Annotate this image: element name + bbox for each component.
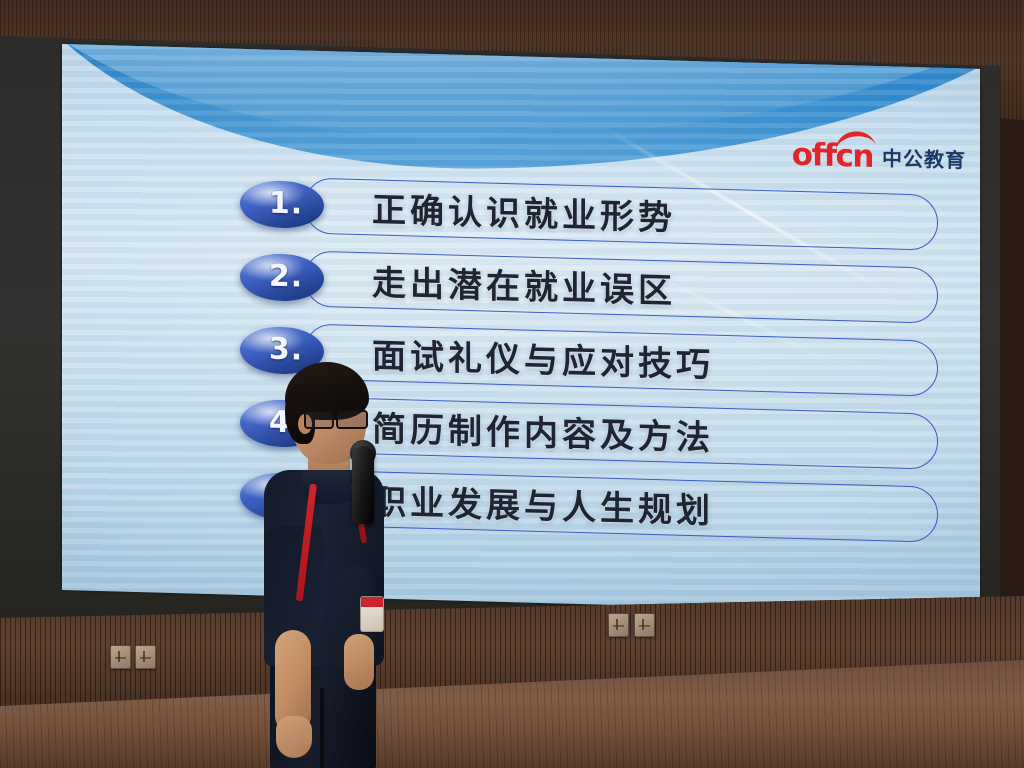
presenter [252,358,428,768]
outlet-socket-icon [639,619,650,630]
glasses-lens-right [336,410,368,429]
list-item-label: 走出潜在就业误区 [372,255,676,312]
outlet-socket-icon [613,619,624,630]
outlet-socket-icon [115,651,126,662]
list-item-number: 1. [269,188,303,219]
list-item-label: 正确认识就业形势 [372,182,676,239]
presenter-sleeve [264,526,324,638]
offcn-chinese-name: 中公教育 [882,148,966,170]
wall-outlet-plate [634,613,655,637]
offcn-wordmark: offcn [792,140,873,173]
presenter-leg-seam [320,688,324,768]
wall-outlet-plate [135,645,156,669]
projection-screen: offcn 中公教育 1. 正确认识就业形势 2. 走出潜在就业误区 [62,44,980,615]
lecture-hall-scene: offcn 中公教育 1. 正确认识就业形势 2. 走出潜在就业误区 [0,0,1024,768]
glasses-lens-left [304,410,334,429]
list-item-number: 2. [269,261,303,292]
swoosh-icon [834,129,877,155]
outlet-socket-icon [140,651,151,662]
presenter-right-forearm [344,634,374,690]
presenter-left-hand [276,716,312,758]
wall-outlet-plate [608,613,629,637]
wall-outlet-plate [110,645,131,669]
id-badge-card [360,596,384,632]
microphone-icon [352,446,374,524]
id-badge-header [361,597,383,607]
offcn-logo: offcn 中公教育 [792,140,966,176]
glasses-icon [304,410,366,425]
